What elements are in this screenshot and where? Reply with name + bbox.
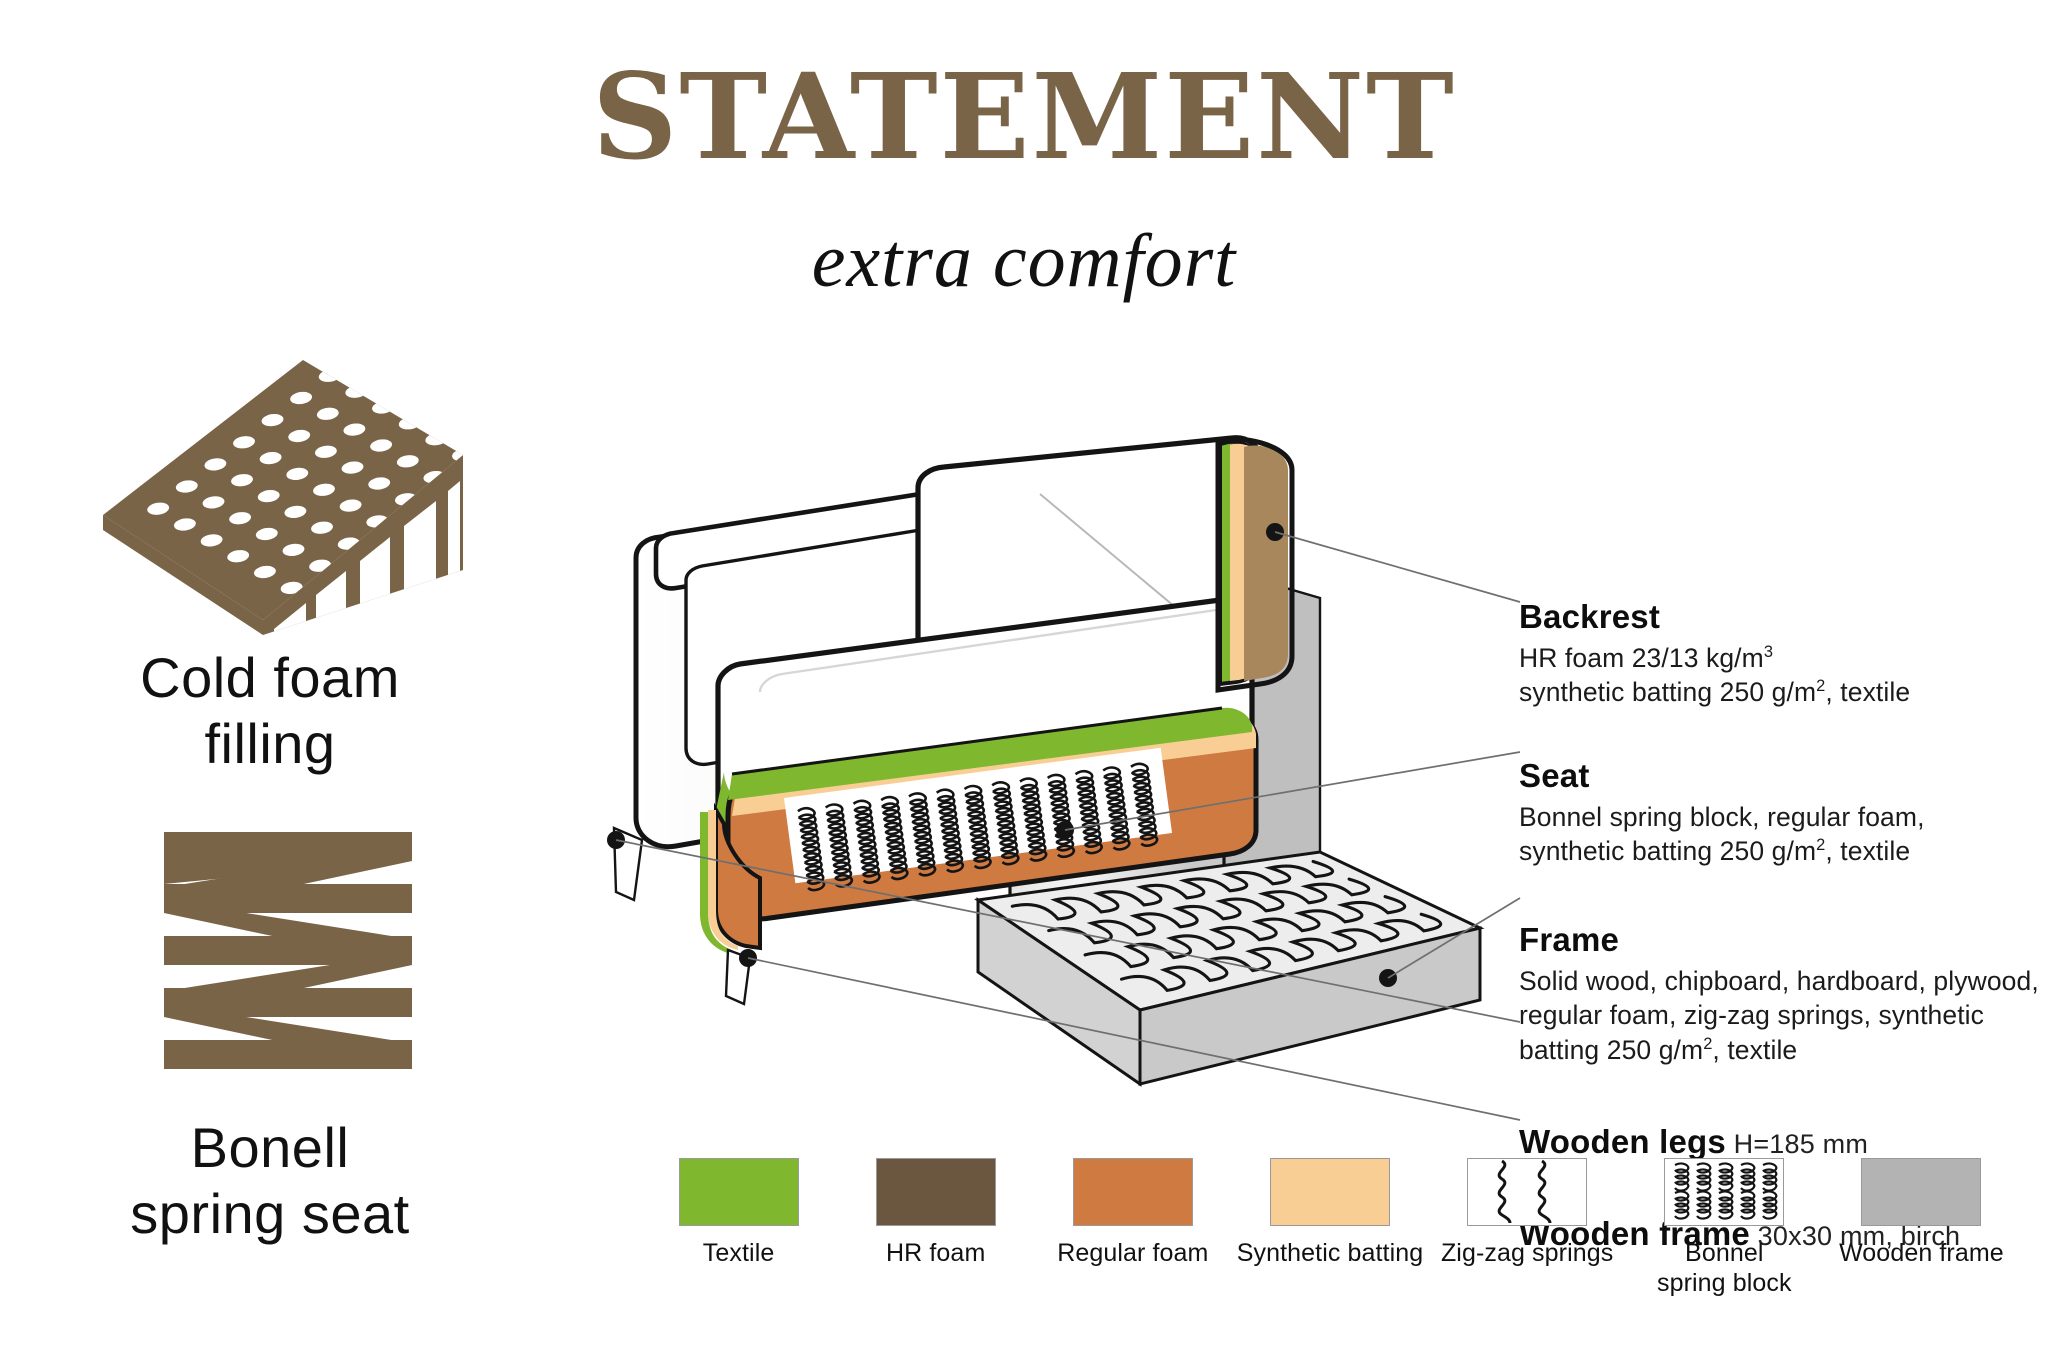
legend-item-wooden-frame: Wooden frame	[1821, 1158, 2021, 1268]
legend-swatch	[1073, 1158, 1193, 1226]
cold-foam-caption: Cold foamfilling	[20, 645, 520, 777]
legend-swatch	[1861, 1158, 1981, 1226]
legend-item-textile: Textile	[639, 1158, 839, 1268]
spec-frame-title: Frame	[1519, 921, 1619, 958]
spec-seat-body: Bonnel spring block, regular foam,synthe…	[1519, 800, 2039, 869]
legend-swatch	[876, 1158, 996, 1226]
legend-swatch	[1270, 1158, 1390, 1226]
bonell-spring-caption: Bonellspring seat	[20, 1115, 520, 1247]
spec-wooden-legs-inline: H=185 mm	[1726, 1129, 1868, 1159]
spec-list: Backrest HR foam 23/13 kg/m3synthetic ba…	[1519, 598, 2039, 1253]
legend-label: Textile	[639, 1238, 839, 1268]
page-subtitle: extra comfort	[0, 218, 2048, 305]
cold-foam-block-icon	[78, 330, 478, 640]
legend-item-bonnel-spring-block: Bonnelspring block	[1624, 1158, 1824, 1298]
legend-label: Synthetic batting	[1230, 1238, 1430, 1268]
legend-item-synthetic-batting: Synthetic batting	[1230, 1158, 1430, 1268]
spec-backrest-title: Backrest	[1519, 598, 1660, 635]
infographic-canvas: STATEMENT extra comfort	[0, 0, 2048, 1335]
legend-item-zig-zag-springs: Zig-zag springs	[1427, 1158, 1627, 1268]
spec-seat: Seat Bonnel spring block, regular foam,s…	[1519, 757, 2039, 869]
legend-swatch	[1467, 1158, 1587, 1226]
legend-label: Wooden frame	[1821, 1238, 2021, 1268]
zigzag-springs-pattern-icon	[1468, 1159, 1586, 1225]
spec-backrest-body: HR foam 23/13 kg/m3synthetic batting 250…	[1519, 641, 2039, 710]
spec-frame-body: Solid wood, chipboard, hardboard, plywoo…	[1519, 964, 2039, 1067]
legend-label: Bonnelspring block	[1624, 1238, 1824, 1298]
spec-wooden-legs-title: Wooden legs	[1519, 1123, 1726, 1160]
legend-label: HR foam	[836, 1238, 1036, 1268]
spec-frame: Frame Solid wood, chipboard, hardboard, …	[1519, 921, 2039, 1067]
legend-swatch	[679, 1158, 799, 1226]
bonnel-spring-block-pattern-icon	[1665, 1159, 1783, 1225]
page-title: STATEMENT	[0, 58, 2048, 176]
legend-label: Zig-zag springs	[1427, 1238, 1627, 1268]
material-legend: TextileHR foamRegular foamSynthetic batt…	[640, 1158, 2020, 1308]
legend-swatch	[1664, 1158, 1784, 1226]
spec-seat-title: Seat	[1519, 757, 1590, 794]
spec-backrest: Backrest HR foam 23/13 kg/m3synthetic ba…	[1519, 598, 2039, 710]
legend-item-hr-foam: HR foam	[836, 1158, 1036, 1268]
legend-label: Regular foam	[1033, 1238, 1233, 1268]
legend-item-regular-foam: Regular foam	[1033, 1158, 1233, 1268]
zigzag-spring-icon	[160, 828, 420, 1090]
spec-wooden-legs: Wooden legs H=185 mm	[1519, 1123, 2039, 1161]
